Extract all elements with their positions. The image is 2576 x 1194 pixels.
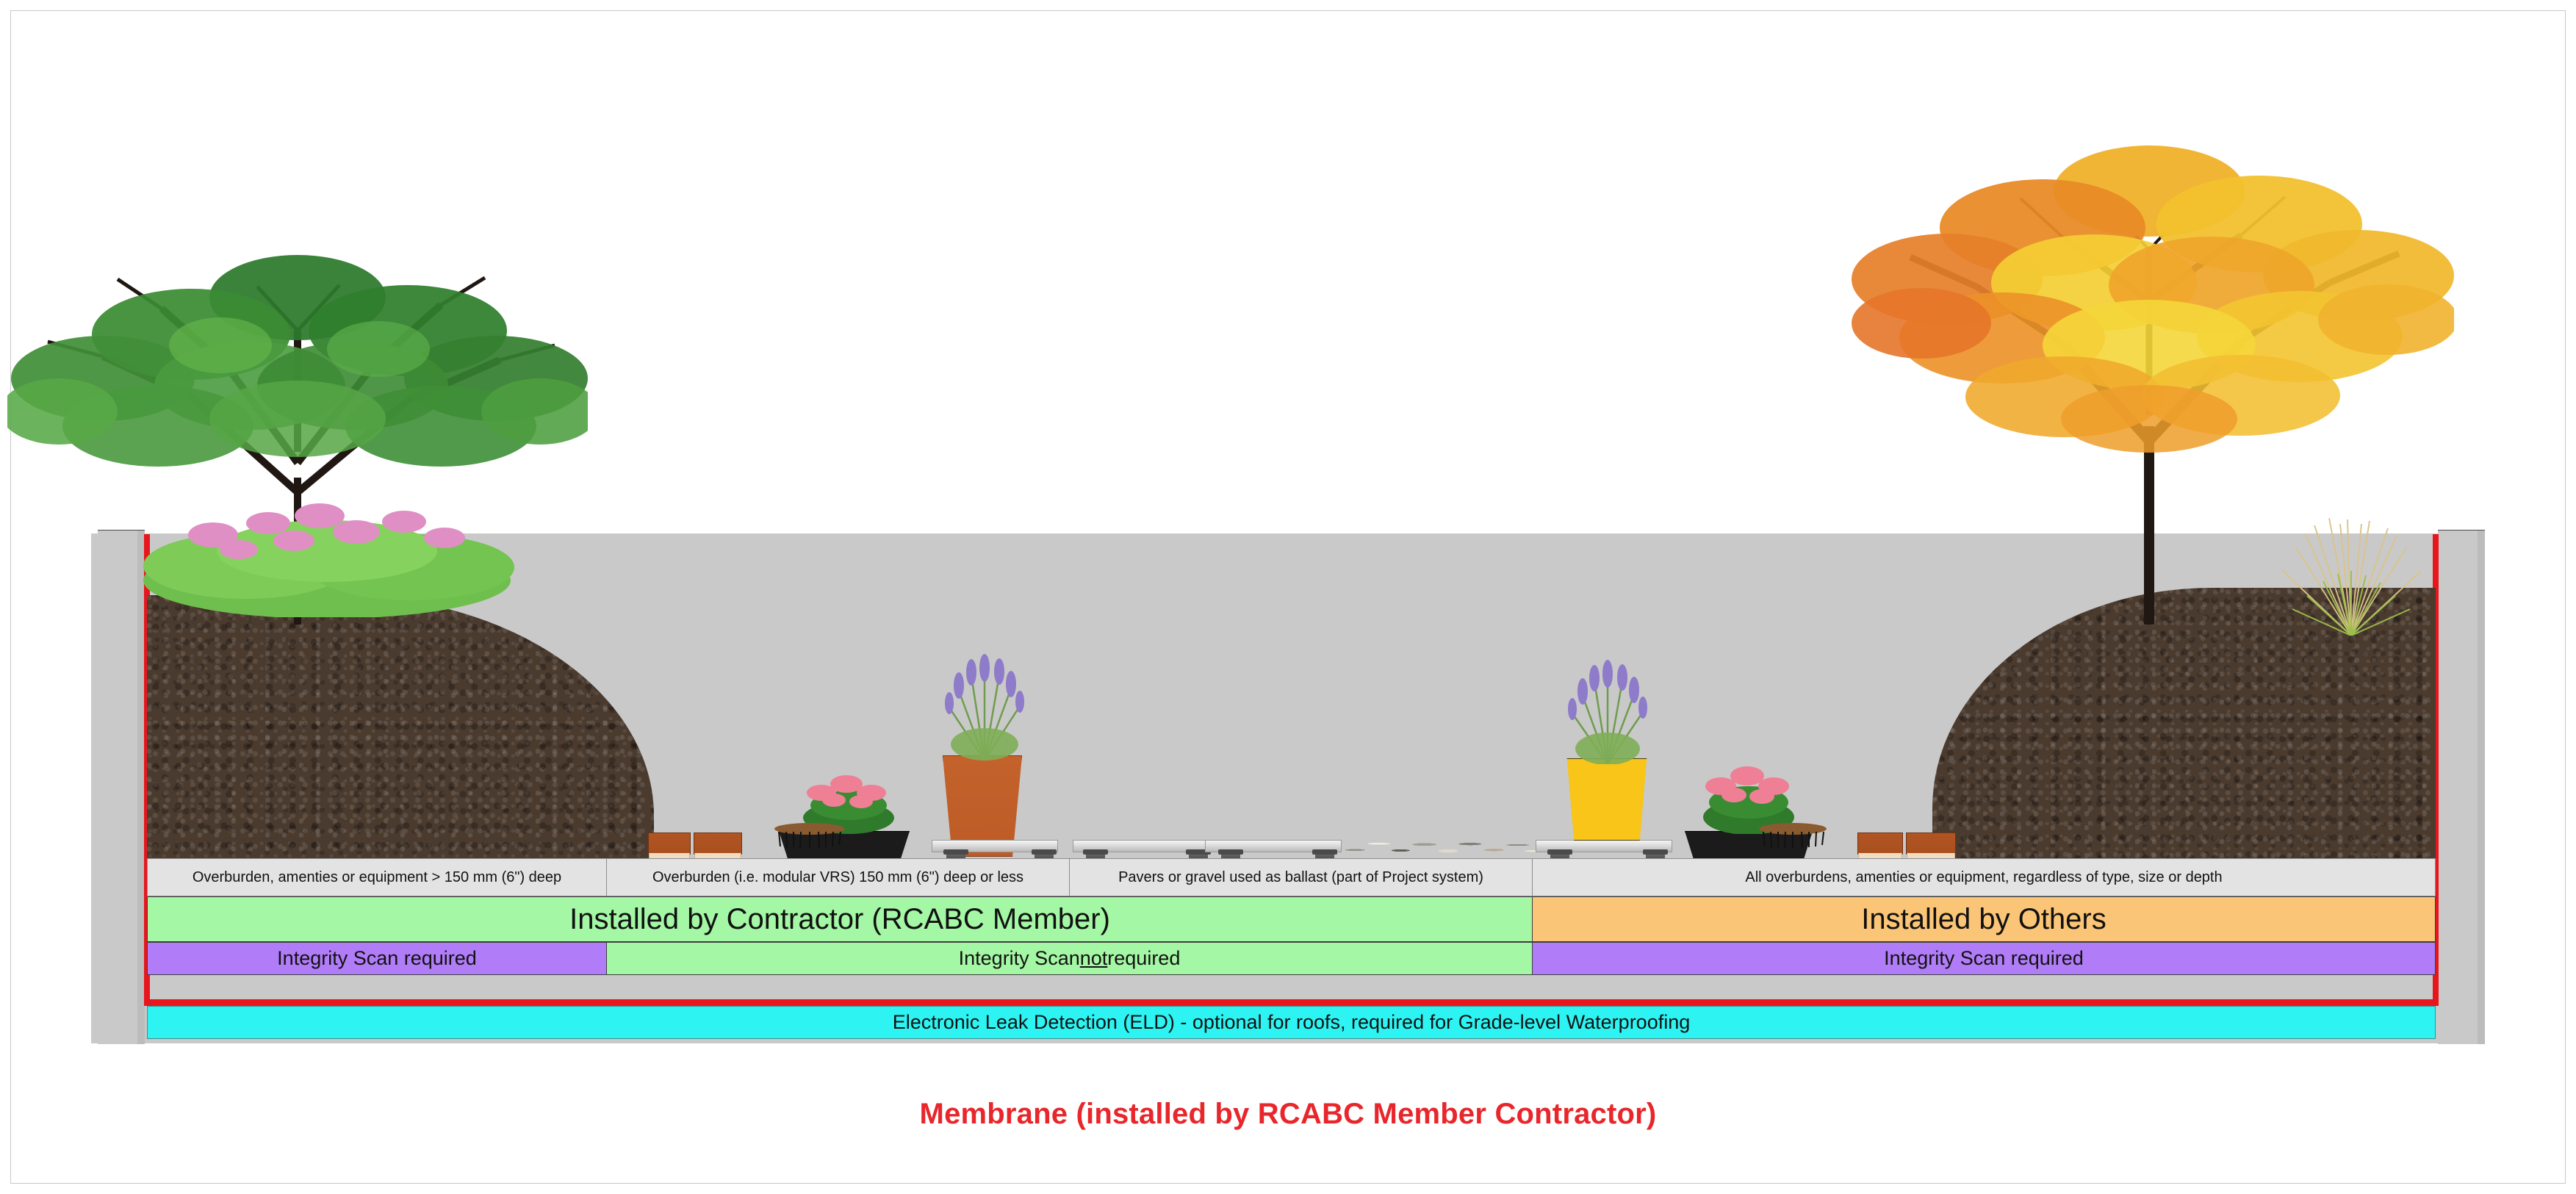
ornamental-grass xyxy=(2270,518,2432,636)
modular-vegetated-roof-tray xyxy=(648,832,691,855)
yellow-tapered-pot xyxy=(1564,758,1650,841)
band-integrity-scan-required-right: Integrity Scan required xyxy=(1533,942,2436,975)
band-electronic-leak-detection: Electronic Leak Detection (ELD) - option… xyxy=(147,1006,2436,1039)
tray-sedum-mat xyxy=(1757,821,1828,851)
scan-label-pre: Integrity Scan xyxy=(959,947,1080,970)
lavender-plant xyxy=(933,650,1036,760)
lavender-plant xyxy=(1559,658,1656,764)
caption-zone-c: Pavers or gravel used as ballast (part o… xyxy=(1070,858,1533,896)
band-installed-by-others: Installed by Others xyxy=(1533,896,2436,942)
gravel-ballast xyxy=(1343,832,1541,857)
pink-flowering-shrub xyxy=(136,470,518,617)
band-installed-by-contractor: Installed by Contractor (RCABC Member) xyxy=(147,896,1533,942)
caption-zone-d: All overburdens, amenties or equipment, … xyxy=(1533,858,2436,896)
diagram-canvas: Overburden, amenties or equipment > 150 … xyxy=(0,0,2576,1194)
scan-label-post: required xyxy=(1107,947,1180,970)
caption-zone-a: Overburden, amenties or equipment > 150 … xyxy=(147,858,607,896)
caption-zone-b: Overburden (i.e. modular VRS) 150 mm (6"… xyxy=(607,858,1070,896)
modular-vegetated-roof-tray xyxy=(1857,832,1903,855)
overburden-caption-row: Overburden, amenties or equipment > 150 … xyxy=(147,858,2436,896)
membrane-caption: Membrane (installed by RCABC Member Cont… xyxy=(0,1098,2576,1131)
tray-sedum-mat xyxy=(773,821,846,851)
scan-label-emphasis: not xyxy=(1080,947,1108,970)
band-integrity-scan-not-required: Integrity Scan not required xyxy=(607,942,1533,975)
responsibility-row: Installed by Contractor (RCABC Member) I… xyxy=(147,896,2436,942)
right-parapet-shading xyxy=(2478,531,2485,1044)
modular-vegetated-roof-tray xyxy=(694,832,742,855)
integrity-scan-row: Integrity Scan required Integrity Scan n… xyxy=(147,942,2436,975)
membrane-horizontal-field xyxy=(144,999,2439,1006)
band-integrity-scan-required-left: Integrity Scan required xyxy=(147,942,607,975)
modular-vegetated-roof-tray xyxy=(1906,832,1956,855)
